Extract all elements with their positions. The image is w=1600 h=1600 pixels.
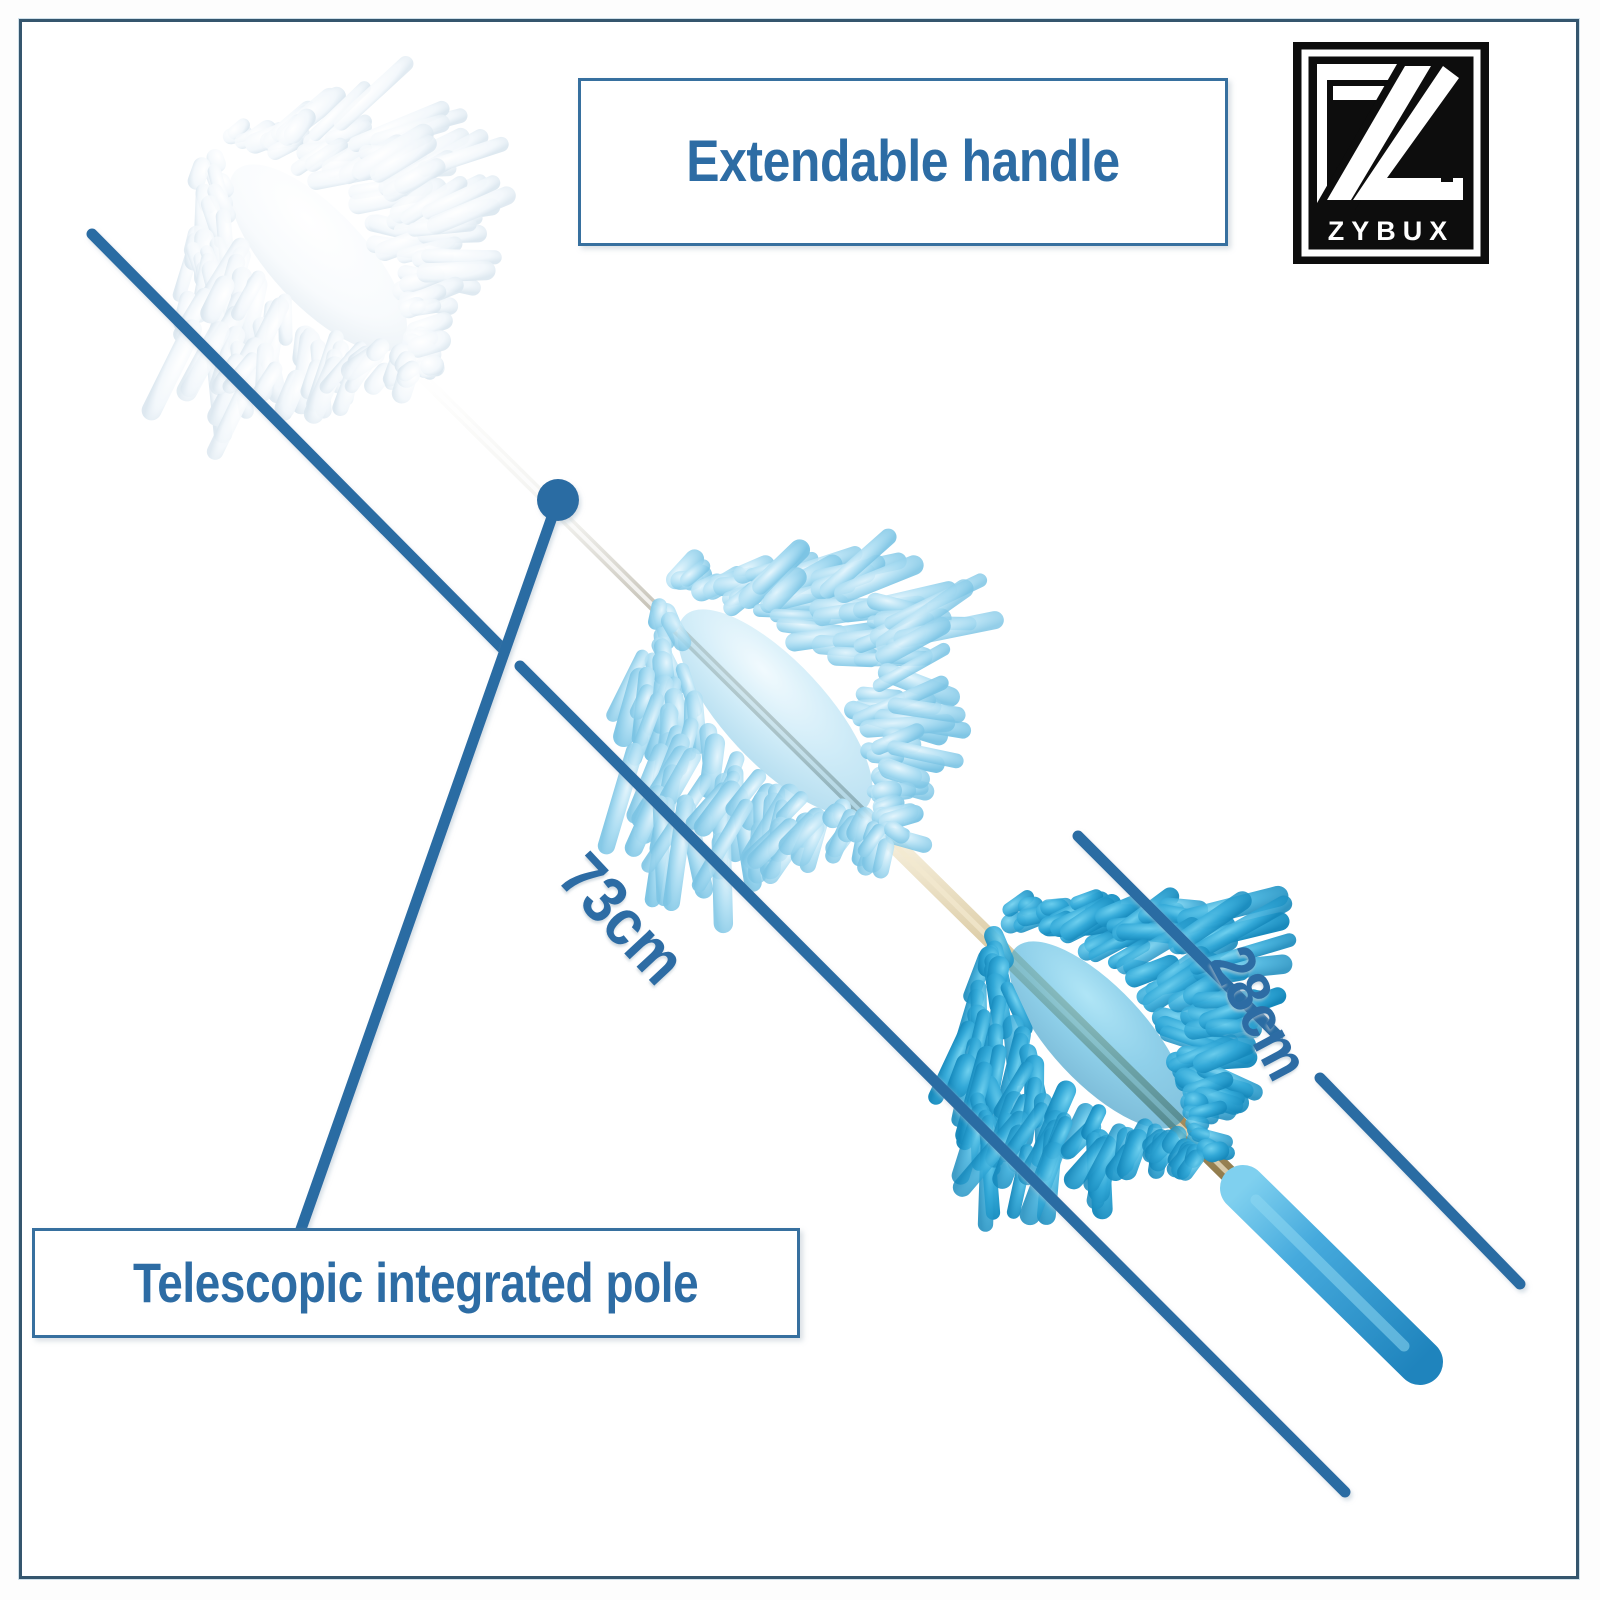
- leader-anchor-dot: [537, 479, 579, 521]
- callout-telescopic-pole: Telescopic integrated pole: [32, 1228, 800, 1338]
- infographic-stage: Extendable handle Telescopic integrated …: [0, 0, 1600, 1600]
- callout-extendable-handle: Extendable handle: [578, 78, 1228, 246]
- zybux-logo-mark: ZYBUX: [1293, 42, 1489, 264]
- zybux-logo: ZYBUX: [1293, 42, 1489, 264]
- callout-extendable-handle-label: Extendable handle: [686, 133, 1119, 191]
- zybux-wordmark: ZYBUX: [1328, 216, 1455, 246]
- callout-telescopic-pole-label: Telescopic integrated pole: [133, 1255, 698, 1311]
